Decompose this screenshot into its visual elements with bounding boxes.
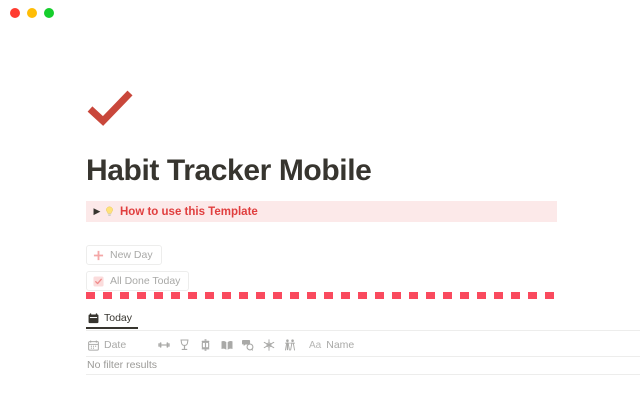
checkbox-icon xyxy=(93,276,104,287)
column-workout[interactable] xyxy=(153,339,174,351)
database-view-tabs: Today xyxy=(86,309,640,331)
lantern-icon xyxy=(200,339,211,351)
all-done-today-button[interactable]: All Done Today xyxy=(86,271,189,291)
all-done-today-button-label: All Done Today xyxy=(110,275,180,287)
check-mark-icon[interactable] xyxy=(86,88,136,128)
new-day-button-label: New Day xyxy=(110,249,153,261)
column-drink[interactable] xyxy=(174,339,195,351)
book-icon xyxy=(221,340,233,351)
dumbbell-icon xyxy=(158,339,170,351)
empty-state-divider xyxy=(86,374,640,375)
column-cold-shower[interactable] xyxy=(258,339,279,351)
how-to-use-callout[interactable]: ▶ How to use this Template xyxy=(86,201,557,222)
column-language[interactable] xyxy=(237,339,258,351)
empty-state-text: No filter results xyxy=(87,359,157,371)
tab-today-label: Today xyxy=(104,312,132,324)
calendar-icon xyxy=(88,313,99,324)
aa-text-icon: Aa xyxy=(309,340,321,351)
people-icon xyxy=(284,339,296,351)
column-name-label: Name xyxy=(326,339,354,351)
plus-icon xyxy=(93,250,104,261)
column-name[interactable]: Aa Name xyxy=(300,339,354,351)
tabs-divider xyxy=(86,330,640,331)
new-day-button[interactable]: New Day xyxy=(86,245,162,265)
column-read[interactable] xyxy=(216,340,237,351)
column-header-divider xyxy=(86,356,640,357)
column-meditate[interactable] xyxy=(195,339,216,351)
wine-glass-icon xyxy=(179,339,190,351)
column-date-label: Date xyxy=(104,339,126,351)
window-titlebar xyxy=(0,0,640,26)
calendar-icon xyxy=(88,340,99,351)
maximize-button[interactable] xyxy=(44,8,54,18)
tab-today[interactable]: Today xyxy=(86,309,138,329)
snowflake-icon xyxy=(263,339,275,351)
page-title[interactable]: Habit Tracker Mobile xyxy=(86,153,371,189)
close-button[interactable] xyxy=(10,8,20,18)
column-social[interactable] xyxy=(279,339,300,351)
callout-text: How to use this Template xyxy=(120,206,258,218)
table-column-header: Date xyxy=(86,334,640,356)
speech-bubble-icon xyxy=(242,339,254,351)
page-canvas: Habit Tracker Mobile ▶ How to use this T… xyxy=(0,26,640,400)
minimize-button[interactable] xyxy=(27,8,37,18)
light-bulb-icon xyxy=(104,206,115,217)
dashed-divider xyxy=(86,292,560,299)
column-date[interactable]: Date xyxy=(86,339,153,351)
traffic-light-controls xyxy=(10,8,54,18)
toggle-arrow-icon[interactable]: ▶ xyxy=(90,207,104,216)
